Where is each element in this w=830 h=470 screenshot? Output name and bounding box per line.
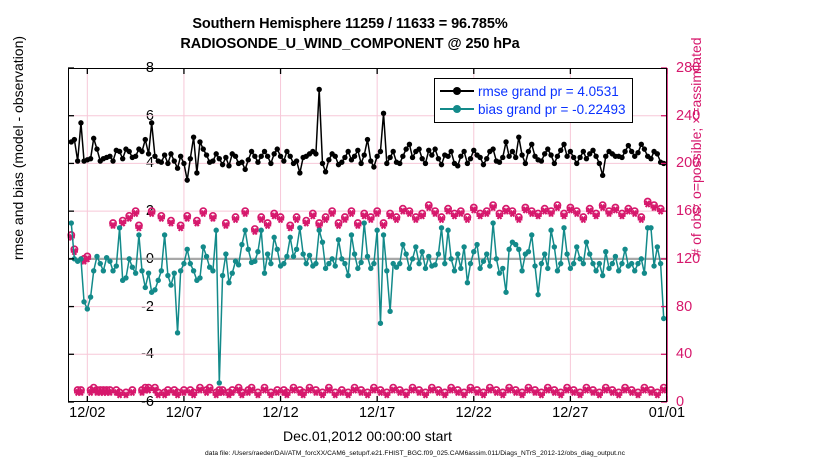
chart-title: Southern Hemisphere 11259 / 11633 = 96.7… <box>0 14 700 54</box>
legend-label-bias: bias grand pr = -0.22493 <box>478 102 625 117</box>
data-file-footer: data file: /Users/raeder/DAI/ATM_forcXX/… <box>0 450 830 457</box>
y-axis-label-right: # of obs: o=possible; ×=assimilated <box>688 0 704 397</box>
legend-swatch-rmse <box>440 84 474 98</box>
xtick-0: 12/02 <box>52 406 122 421</box>
xtick-3: 12/17 <box>342 406 412 421</box>
xtick-5: 12/27 <box>535 406 605 421</box>
legend-swatch-bias <box>440 102 474 116</box>
title-line-1: Southern Hemisphere 11259 / 11633 = 96.7… <box>0 14 700 34</box>
legend-item-rmse[interactable]: rmse grand pr = 4.0531 <box>440 82 625 100</box>
xtick-4: 12/22 <box>439 406 509 421</box>
xtick-6: 01/01 <box>632 406 702 421</box>
chart-figure: Southern Hemisphere 11259 / 11633 = 96.7… <box>0 0 830 470</box>
chart-legend: rmse grand pr = 4.0531 bias grand pr = -… <box>434 78 633 123</box>
legend-item-bias[interactable]: bias grand pr = -0.22493 <box>440 100 625 118</box>
legend-label-rmse: rmse grand pr = 4.0531 <box>478 84 619 99</box>
y-axis-label-left: rmse and bias (model - observation) <box>10 0 26 398</box>
xtick-1: 12/07 <box>149 406 219 421</box>
xtick-2: 12/12 <box>246 406 316 421</box>
title-line-2: RADIOSONDE_U_WIND_COMPONENT @ 250 hPa <box>0 34 700 54</box>
x-axis-label: Dec.01,2012 00:00:00 start <box>68 428 667 444</box>
